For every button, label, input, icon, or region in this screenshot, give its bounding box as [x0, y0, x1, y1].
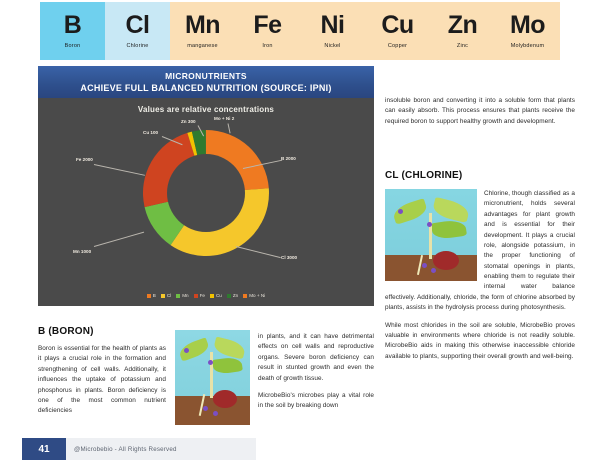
label-fe: Fe 2000 — [76, 157, 93, 162]
element-tile-iron[interactable]: Fe Iron — [235, 2, 300, 60]
nutrient-dot-icon — [213, 411, 218, 416]
element-name: Copper — [388, 43, 407, 49]
label-cl: Cl 3000 — [281, 255, 297, 260]
stem — [429, 213, 432, 259]
element-tile-boron[interactable]: B Boron — [40, 2, 105, 60]
element-name: Iron — [262, 43, 272, 49]
legend-item-cl: Cl — [161, 293, 171, 298]
label-zn: Zn 300 — [181, 119, 196, 124]
nutrient-dot-icon — [422, 263, 427, 268]
legend-item-zn: Zn — [227, 293, 238, 298]
label-mo-ni: Mo + Ni 2 — [214, 116, 234, 121]
chlorine-body: Chlorine, though classified as a micronu… — [385, 189, 575, 362]
nutrient-dot-icon — [398, 209, 403, 214]
element-name: Chlorine — [126, 43, 148, 49]
legend-item-moni: Mo + Ni — [243, 293, 265, 298]
chlorine-seedling-illustration — [385, 189, 477, 281]
nutrient-dot-icon — [431, 268, 436, 273]
legend-swatch-icon — [194, 294, 198, 298]
element-strip: B Boron Cl Chlorine Mn manganese Fe Iron… — [40, 2, 560, 60]
donut-ring — [143, 130, 269, 256]
legend-label: B — [153, 293, 156, 298]
donut-hole — [167, 154, 245, 232]
nutrient-dot-icon — [427, 222, 432, 227]
element-name: manganese — [187, 43, 218, 49]
legend-swatch-icon — [243, 294, 247, 298]
element-name: Zinc — [457, 43, 468, 49]
boron-column3: insoluble boron and converting it into a… — [385, 96, 575, 127]
element-tile-zinc[interactable]: Zn Zinc — [430, 2, 495, 60]
legend-swatch-icon — [227, 294, 231, 298]
chart-subtitle: Values are relative concentrations — [38, 105, 374, 114]
element-symbol: Cu — [381, 13, 413, 38]
seed-icon — [433, 251, 459, 270]
label-b: B 2000 — [281, 156, 296, 161]
boron-seedling-illustration — [175, 330, 250, 425]
element-symbol: Mn — [185, 13, 220, 38]
legend-label: Zn — [233, 293, 238, 298]
legend-label: Cu — [216, 293, 222, 298]
element-tile-molybdenum[interactable]: Mo Molybdenum — [495, 2, 560, 60]
nutrient-dot-icon — [203, 406, 208, 411]
element-tile-nickel[interactable]: Ni Nickel — [300, 2, 365, 60]
boron-col3-paragraph: insoluble boron and converting it into a… — [385, 96, 575, 127]
boron-col2-paragraph-2: MicrobeBio's microbes play a vital role … — [258, 391, 374, 412]
boron-col2-paragraph-1: in plants, and it can have detrimental e… — [258, 332, 374, 384]
legend-item-cu: Cu — [210, 293, 222, 298]
slide-page: B Boron Cl Chlorine Mn manganese Fe Iron… — [0, 0, 600, 469]
legend-swatch-icon — [176, 294, 180, 298]
legend-swatch-icon — [147, 294, 151, 298]
chlorine-heading: CL (CHLORINE) — [385, 170, 575, 181]
legend-item-fe: Fe — [194, 293, 205, 298]
element-tile-manganese[interactable]: Mn manganese — [170, 2, 235, 60]
nutrient-dot-icon — [208, 360, 213, 365]
legend-label: Cl — [167, 293, 171, 298]
boron-section: B (BORON) Boron is essential for the hea… — [38, 326, 166, 417]
micronutrients-chart-card: MICRONUTRIENTS ACHIEVE FULL BALANCED NUT… — [38, 66, 374, 306]
footer-copyright: @Microbebio - All Rights Reserved — [66, 438, 256, 460]
element-name: Boron — [65, 43, 81, 49]
element-symbol: Ni — [321, 13, 345, 38]
boron-col1-paragraph: Boron is essential for the health of pla… — [38, 344, 166, 417]
legend-item-b: B — [147, 293, 156, 298]
legend-label: Fe — [200, 293, 205, 298]
element-symbol: Fe — [253, 13, 281, 38]
chart-title-line1: MICRONUTRIENTS — [165, 71, 247, 81]
element-symbol: Mo — [510, 13, 545, 38]
element-name: Nickel — [324, 43, 340, 49]
donut-chart: Zn 300 Mo + Ni 2 Cu 100 Fe 2000 Mn 1000 … — [38, 114, 374, 304]
legend-label: Mo + Ni — [249, 293, 265, 298]
element-name: Molybdenum — [511, 43, 545, 49]
chlorine-paragraph-2: While most chlorides in the soil are sol… — [385, 321, 575, 363]
chart-banner-header: MICRONUTRIENTS ACHIEVE FULL BALANCED NUT… — [38, 66, 374, 98]
label-mn: Mn 1000 — [73, 249, 91, 254]
chlorine-section: CL (CHLORINE) Chlorine, though classifie… — [385, 170, 575, 362]
stem — [210, 352, 213, 398]
label-cu: Cu 100 — [143, 130, 158, 135]
legend-label: Mn — [182, 293, 188, 298]
seed-icon — [213, 390, 237, 408]
chart-title-line2: ACHIEVE FULL BALANCED NUTRITION (SOURCE:… — [80, 83, 331, 93]
element-symbol: B — [64, 13, 82, 38]
boron-heading: B (BORON) — [38, 326, 166, 337]
element-symbol: Cl — [126, 13, 150, 38]
leader-line-fe — [94, 164, 145, 176]
nutrient-dot-icon — [184, 348, 189, 353]
element-tile-chlorine[interactable]: Cl Chlorine — [105, 2, 170, 60]
leader-line-mn — [94, 232, 144, 247]
legend-item-mn: Mn — [176, 293, 188, 298]
chart-legend: B Cl Mn Fe Cu Zn Mo + Ni — [38, 293, 374, 298]
page-number-badge: 41 — [22, 438, 66, 460]
element-tile-copper[interactable]: Cu Copper — [365, 2, 430, 60]
boron-column2: in plants, and it can have detrimental e… — [258, 332, 374, 412]
element-symbol: Zn — [448, 13, 478, 38]
legend-swatch-icon — [210, 294, 214, 298]
legend-swatch-icon — [161, 294, 165, 298]
